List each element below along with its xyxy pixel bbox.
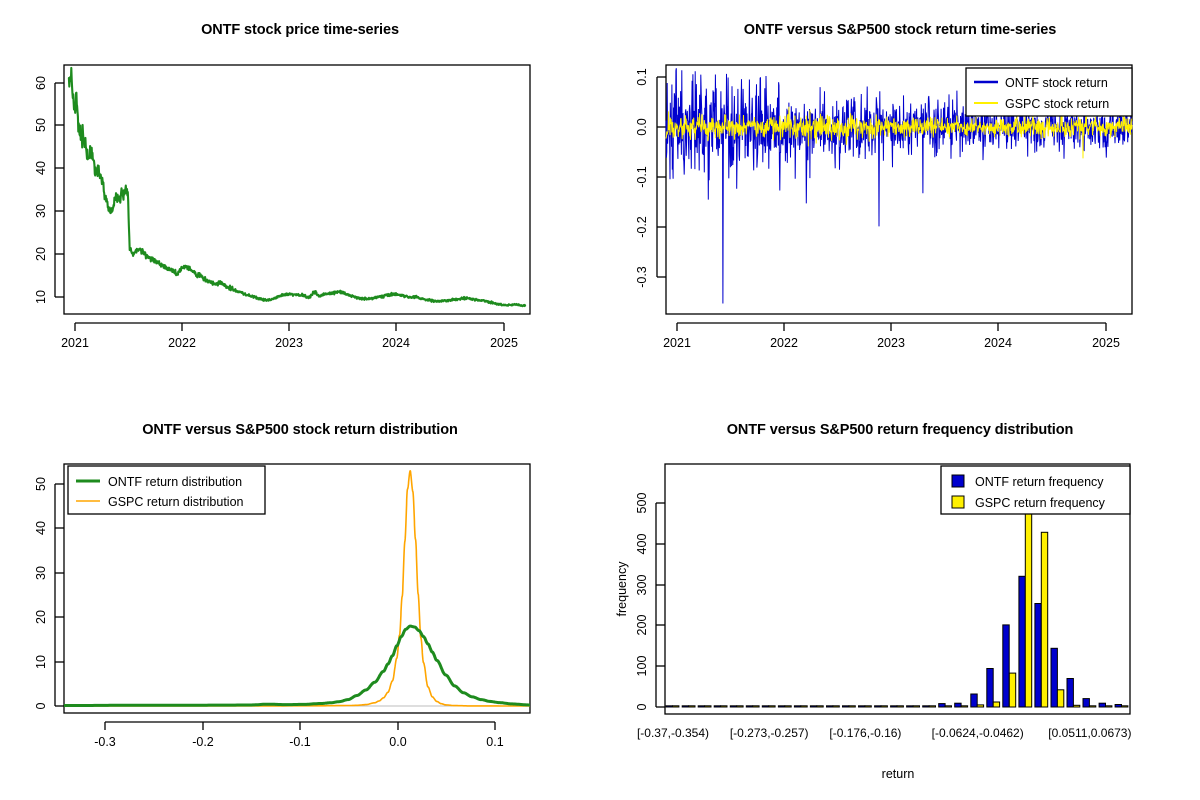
x-tick-ret-2: 2023 (877, 336, 905, 350)
legend-label-gspc: GSPC return distribution (108, 495, 244, 509)
legend-return-frequency: ONTF return frequency GSPC return freque… (941, 466, 1130, 514)
y-tick-dist-0: 0 (34, 702, 48, 709)
x-tick-price-1: 2022 (168, 336, 196, 350)
histogram-bar (705, 706, 711, 707)
y-axis-freq (656, 503, 665, 707)
x-tick-ret-0: 2021 (663, 336, 691, 350)
histogram-bar (817, 706, 823, 707)
y-tick-ret-2: -0.1 (635, 166, 649, 188)
histogram-bar (1041, 532, 1047, 707)
histogram-bar (1083, 699, 1089, 707)
y-tick-dist-5: 50 (34, 477, 48, 491)
histogram-bar (929, 706, 935, 707)
histogram-bar (730, 706, 736, 707)
panel-return-distribution: ONTF versus S&P500 stock return distribu… (0, 400, 600, 800)
histogram-bar (833, 706, 839, 707)
x-tick-freq-label: [-0.176,-0.16) (829, 726, 901, 740)
legend-return-timeseries: ONTF stock return GSPC stock return (966, 68, 1132, 116)
plot-price-timeseries: 10 20 30 40 50 60 2021 2022 2023 2024 20… (0, 0, 600, 400)
histogram-bar (865, 706, 871, 707)
histogram-bar (1003, 625, 1009, 707)
y-tick-dist-1: 10 (34, 655, 48, 669)
histogram-bar (1099, 703, 1105, 707)
histogram-bar (961, 706, 967, 707)
histogram-bar (810, 706, 816, 707)
y-tick-freq-3: 300 (635, 575, 649, 596)
histogram-bar (1122, 706, 1128, 707)
histogram-bar (794, 706, 800, 707)
legend-label-ontf: ONTF return frequency (975, 475, 1104, 489)
x-axis-freq-labels: [-0.37,-0.354)[-0.273,-0.257)[-0.176,-0.… (637, 726, 1132, 740)
x-axis-price (75, 323, 504, 331)
histogram-bar (1019, 576, 1025, 707)
legend-label-gspc: GSPC return frequency (975, 496, 1106, 510)
y-axis-dist (55, 484, 64, 706)
y-tick-dist-4: 40 (34, 521, 48, 535)
histogram-bar (801, 706, 807, 707)
x-tick-freq-label: [-0.273,-0.257) (730, 726, 809, 740)
x-tick-freq-label: [-0.0624,-0.0462) (932, 726, 1024, 740)
plot-return-frequency: 0 100 200 300 400 500 frequency [-0.37,-… (600, 400, 1200, 800)
y-tick-ret-0: 0.1 (635, 68, 649, 85)
y-tick-freq-1: 100 (635, 656, 649, 677)
x-tick-dist-1: -0.2 (192, 735, 214, 749)
y-tick-freq-0: 0 (635, 703, 649, 710)
plot-frame (64, 65, 530, 314)
y-tick-freq-5: 500 (635, 493, 649, 514)
y-tick-dist-3: 30 (34, 566, 48, 580)
y-tick-dist-2: 20 (34, 610, 48, 624)
histogram-bar (746, 706, 752, 707)
legend-return-distribution: ONTF return distribution GSPC return dis… (68, 466, 265, 514)
histogram-bar (689, 706, 695, 707)
histogram-bar (913, 706, 919, 707)
histogram-bar (859, 706, 865, 707)
x-tick-dist-0: -0.3 (94, 735, 116, 749)
histogram-bar (1106, 706, 1112, 707)
histogram-bar (1073, 705, 1079, 707)
x-tick-price-2: 2023 (275, 336, 303, 350)
plot-return-timeseries: 0.1 0.0 -0.1 -0.2 -0.3 2021 2022 2023 20… (600, 0, 1200, 400)
panel-return-timeseries: ONTF versus S&P500 stock return time-ser… (600, 0, 1200, 400)
histogram-bar (1009, 673, 1015, 707)
histogram-bar (1051, 648, 1057, 707)
histogram-bar (955, 703, 961, 707)
panel-price-timeseries: ONTF stock price time-series 10 20 30 40… (0, 0, 600, 400)
y-tick-price-5: 60 (34, 76, 48, 90)
legend-label-gspc: GSPC stock return (1005, 97, 1109, 111)
y-tick-price-4: 50 (34, 118, 48, 132)
x-tick-price-0: 2021 (61, 336, 89, 350)
histogram-bar (891, 706, 897, 707)
legend-swatch-gspc-square (952, 496, 964, 508)
histogram-bar (875, 706, 881, 707)
x-tick-ret-4: 2025 (1092, 336, 1120, 350)
legend-swatch-ontf-square (952, 475, 964, 487)
x-axis-return (677, 323, 1106, 331)
histogram-bar (762, 706, 768, 707)
histogram-bar (945, 706, 951, 707)
histogram-bar (907, 706, 913, 707)
histogram-bar (993, 702, 999, 707)
y-tick-freq-4: 400 (635, 534, 649, 555)
y-tick-freq-2: 200 (635, 615, 649, 636)
histogram-bar (939, 704, 945, 707)
y-tick-price-0: 10 (34, 290, 48, 304)
y-axis-return (657, 77, 666, 277)
y-tick-ret-4: -0.3 (635, 266, 649, 288)
histogram-bar (721, 706, 727, 707)
histogram-bar (682, 706, 688, 707)
histogram-bar (1057, 690, 1063, 707)
histogram-bar (785, 706, 791, 707)
panel-return-frequency: ONTF versus S&P500 return frequency dist… (600, 400, 1200, 800)
x-tick-freq-label: [0.0511,0.0673) (1048, 726, 1131, 740)
histogram-bar (737, 706, 743, 707)
y-axis-label-frequency: frequency (615, 561, 629, 617)
y-axis-price (55, 83, 64, 297)
figure-canvas: ONTF stock price time-series 10 20 30 40… (0, 0, 1200, 800)
histogram-bar (769, 706, 775, 707)
histogram-bar (977, 705, 983, 707)
x-tick-ret-1: 2022 (770, 336, 798, 350)
histogram-bar (849, 706, 855, 707)
histogram-bar (753, 706, 759, 707)
histogram-bar (673, 706, 679, 707)
histogram-bar (897, 706, 903, 707)
histogram-bar (1115, 705, 1121, 708)
x-axis-dist (105, 722, 495, 730)
histogram-bar (1089, 706, 1095, 707)
histogram-bar (1035, 604, 1041, 708)
histogram-bar (843, 706, 849, 707)
x-tick-dist-4: 0.1 (486, 735, 503, 749)
x-tick-dist-2: -0.1 (289, 735, 311, 749)
x-axis-label-return: return (882, 767, 915, 781)
x-tick-ret-3: 2024 (984, 336, 1012, 350)
histogram-bar (881, 706, 887, 707)
y-tick-price-2: 30 (34, 204, 48, 218)
legend-label-ontf: ONTF stock return (1005, 76, 1108, 90)
histogram-bar (923, 706, 929, 707)
histogram-bar (987, 669, 993, 708)
x-tick-price-4: 2025 (490, 336, 518, 350)
histogram-bar (698, 706, 704, 707)
y-tick-price-1: 20 (34, 247, 48, 261)
y-tick-ret-3: -0.2 (635, 216, 649, 238)
histogram-bar (1067, 679, 1073, 708)
series-ontf-price (69, 68, 525, 306)
y-tick-price-3: 40 (34, 161, 48, 175)
x-tick-dist-3: 0.0 (389, 735, 406, 749)
plot-return-distribution: 0 10 20 30 40 50 -0.3 -0.2 -0.1 0.0 0.1 (0, 400, 600, 800)
x-tick-freq-label: [-0.37,-0.354) (637, 726, 709, 740)
histogram-bar (778, 706, 784, 707)
histogram-bar (827, 706, 833, 707)
histogram-bar (714, 706, 720, 707)
legend-label-ontf: ONTF return distribution (108, 475, 242, 489)
y-tick-ret-1: 0.0 (635, 118, 649, 135)
histogram-bar (666, 706, 672, 707)
histogram-bar (971, 694, 977, 707)
x-tick-price-3: 2024 (382, 336, 410, 350)
